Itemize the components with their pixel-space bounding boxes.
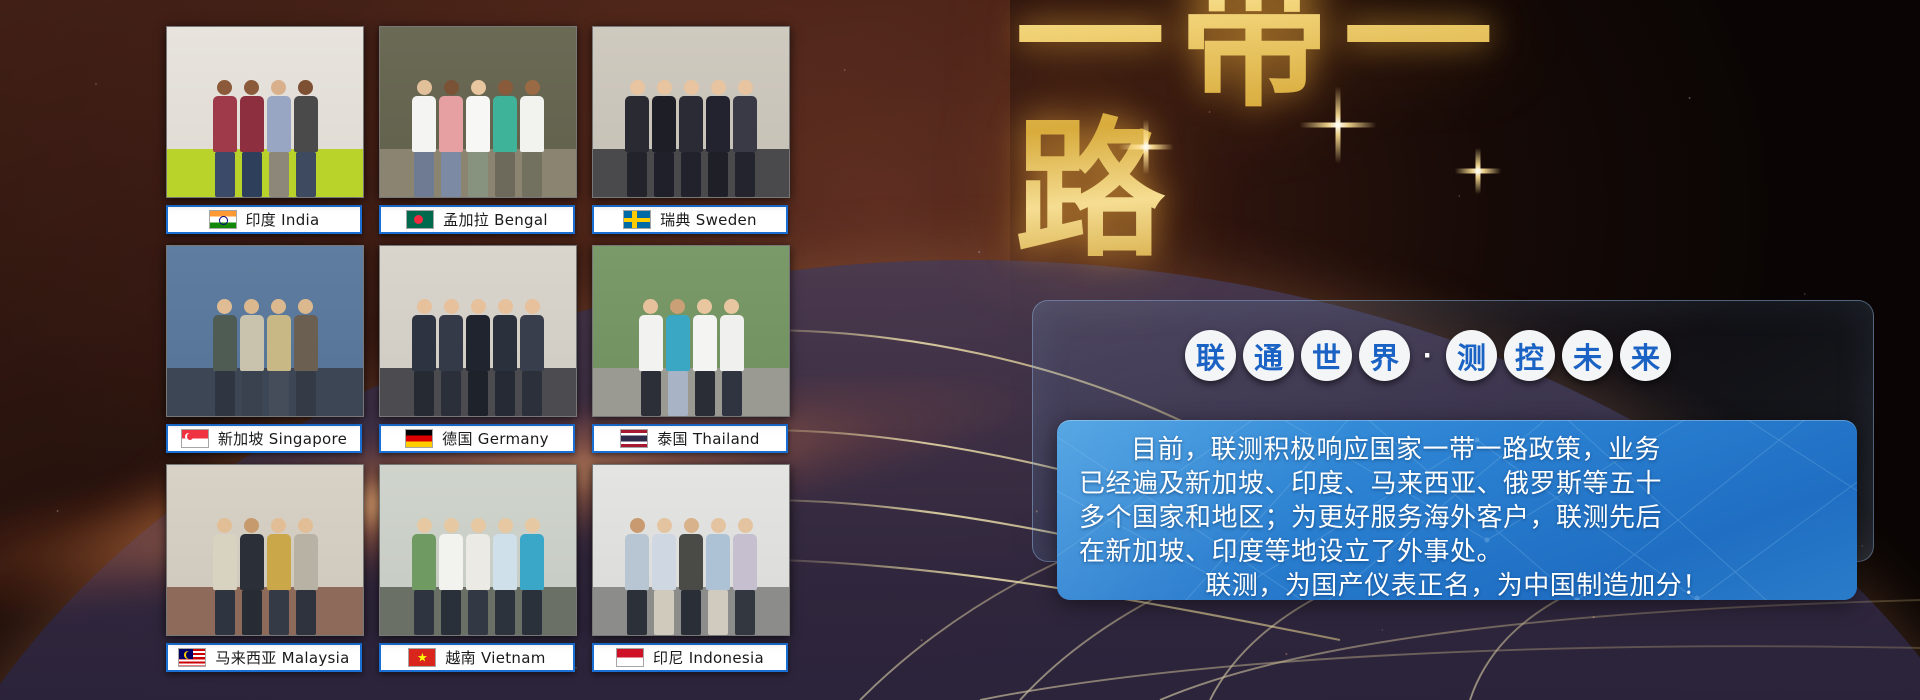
person-figure <box>412 64 436 197</box>
person-figure <box>706 502 730 635</box>
photo-thailand <box>592 245 790 417</box>
description-text: 目前，联测积极响应国家一带一路政策，业务已经遍及新加坡、印度、马来西亚、俄罗斯等… <box>1079 433 1835 600</box>
country-card[interactable]: 孟加拉 Bengal <box>379 26 575 234</box>
person-figure <box>240 283 264 416</box>
country-label: 马来西亚 Malaysia <box>166 643 362 672</box>
description-panel: 目前，联测积极响应国家一带一路政策，业务已经遍及新加坡、印度、马来西亚、俄罗斯等… <box>1057 420 1857 600</box>
person-figure <box>520 283 544 416</box>
country-card[interactable]: 瑞典 Sweden <box>592 26 788 234</box>
person-figure <box>439 64 463 197</box>
person-figure <box>493 64 517 197</box>
person-figure <box>267 502 291 635</box>
country-label-text: 越南 Vietnam <box>445 647 545 668</box>
country-label-text: 印尼 Indonesia <box>653 647 764 668</box>
person-figure <box>267 64 291 197</box>
country-label: 新加坡 Singapore <box>166 424 362 453</box>
person-figure <box>652 502 676 635</box>
country-label: 孟加拉 Bengal <box>379 205 575 234</box>
flag-vietnam: ★ <box>408 648 436 667</box>
description-line: 在新加坡、印度等地设立了外事处。 <box>1079 535 1835 569</box>
person-figure <box>625 64 649 197</box>
person-figure <box>466 64 490 197</box>
slogan-character: 联 <box>1185 330 1236 381</box>
description-line: 已经遍及新加坡、印度、马来西亚、俄罗斯等五十 <box>1079 467 1835 501</box>
flag-thailand <box>620 429 648 448</box>
person-figure <box>720 283 744 416</box>
person-figure <box>466 283 490 416</box>
slogan-bar: 联通世界·测控未来 <box>1185 330 1671 381</box>
country-label: 泰国 Thailand <box>592 424 788 453</box>
photo-bengal <box>379 26 577 198</box>
person-figure <box>679 64 703 197</box>
person-figure <box>733 64 757 197</box>
photo-indonesia <box>592 464 790 636</box>
person-figure <box>693 283 717 416</box>
person-figure <box>294 502 318 635</box>
slogan-character: 测 <box>1446 330 1497 381</box>
flag-germany <box>405 429 433 448</box>
photo-vietnam <box>379 464 577 636</box>
person-figure <box>213 64 237 197</box>
country-label: ★ 越南 Vietnam <box>379 643 575 672</box>
country-card[interactable]: ★ 越南 Vietnam <box>379 464 575 672</box>
person-figure <box>240 502 264 635</box>
description-line: 联测，为国产仪表正名，为中国制造加分！ <box>1079 569 1835 600</box>
slogan-character: 界 <box>1359 330 1410 381</box>
partner-photo-grid: 印度 India <box>166 26 806 678</box>
person-figure <box>679 502 703 635</box>
person-figure <box>652 64 676 197</box>
flag-singapore <box>181 429 209 448</box>
calligraphy-title: 一带一路 <box>1015 8 1575 223</box>
person-figure <box>294 64 318 197</box>
person-figure <box>213 502 237 635</box>
person-figure <box>439 502 463 635</box>
country-card[interactable]: 泰国 Thailand <box>592 245 788 453</box>
person-figure <box>666 283 690 416</box>
country-label-text: 马来西亚 Malaysia <box>215 647 349 668</box>
country-label-text: 新加坡 Singapore <box>218 428 347 449</box>
flag-malaysia <box>178 648 206 667</box>
flag-sweden <box>623 210 651 229</box>
country-label-text: 瑞典 Sweden <box>660 209 757 230</box>
flag-india <box>209 210 237 229</box>
person-figure <box>466 502 490 635</box>
person-figure <box>639 283 663 416</box>
person-figure <box>733 502 757 635</box>
country-label-text: 孟加拉 Bengal <box>443 209 548 230</box>
photo-singapore <box>166 245 364 417</box>
slogan-character: 未 <box>1562 330 1613 381</box>
slogan-separator: · <box>1417 339 1439 373</box>
person-figure <box>267 283 291 416</box>
country-label-text: 泰国 Thailand <box>657 428 760 449</box>
person-figure <box>493 283 517 416</box>
person-figure <box>213 283 237 416</box>
slogan-character: 控 <box>1504 330 1555 381</box>
country-card[interactable]: 印尼 Indonesia <box>592 464 788 672</box>
country-label: 德国 Germany <box>379 424 575 453</box>
country-card[interactable]: 新加坡 Singapore <box>166 245 362 453</box>
person-figure <box>294 283 318 416</box>
person-figure <box>240 64 264 197</box>
person-figure <box>520 502 544 635</box>
photo-germany <box>379 245 577 417</box>
person-figure <box>412 283 436 416</box>
photo-india <box>166 26 364 198</box>
description-line: 目前，联测积极响应国家一带一路政策，业务 <box>1079 433 1835 467</box>
person-figure <box>493 502 517 635</box>
description-line: 多个国家和地区；为更好服务海外客户，联测先后 <box>1079 501 1835 535</box>
country-label: 印尼 Indonesia <box>592 643 788 672</box>
photo-sweden <box>592 26 790 198</box>
slogan-character: 通 <box>1243 330 1294 381</box>
person-figure <box>706 64 730 197</box>
country-card[interactable]: 印度 India <box>166 26 362 234</box>
slogan-character: 世 <box>1301 330 1352 381</box>
country-label-text: 印度 India <box>246 209 320 230</box>
photo-malaysia <box>166 464 364 636</box>
flag-indonesia <box>616 648 644 667</box>
country-label: 印度 India <box>166 205 362 234</box>
person-figure <box>625 502 649 635</box>
country-label: 瑞典 Sweden <box>592 205 788 234</box>
person-figure <box>412 502 436 635</box>
slogan-character: 来 <box>1620 330 1671 381</box>
country-label-text: 德国 Germany <box>442 428 549 449</box>
person-figure <box>439 283 463 416</box>
belt-and-road-banner: 印度 India <box>0 0 1920 700</box>
person-figure <box>520 64 544 197</box>
calligraphy-text: 一带一路 <box>1015 0 1575 266</box>
country-card[interactable]: 马来西亚 Malaysia <box>166 464 362 672</box>
country-card[interactable]: 德国 Germany <box>379 245 575 453</box>
flag-bangladesh <box>406 210 434 229</box>
